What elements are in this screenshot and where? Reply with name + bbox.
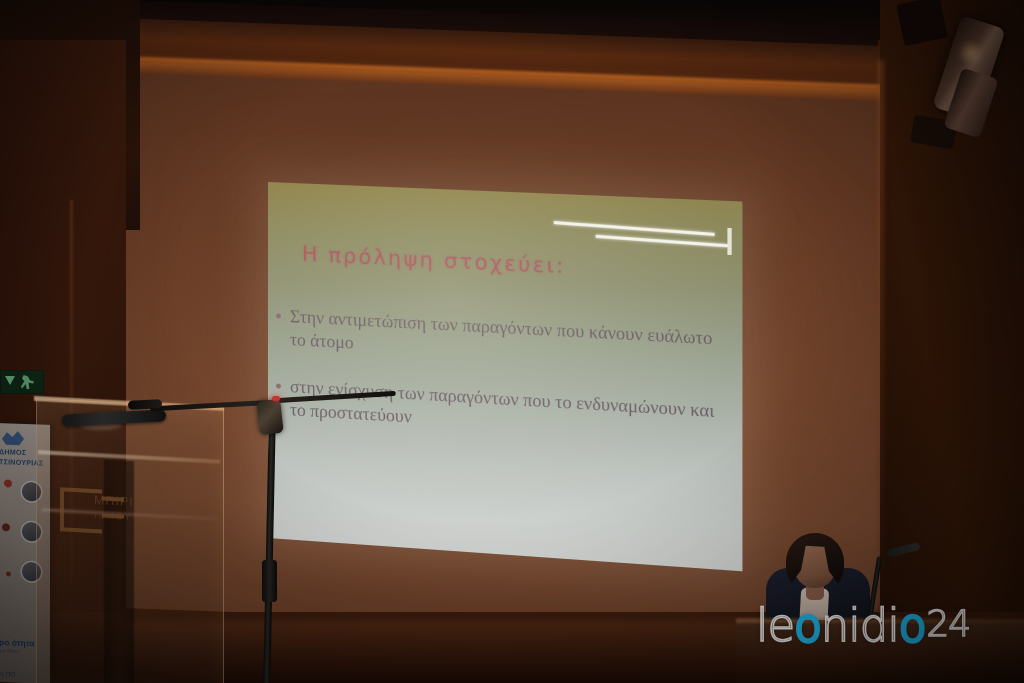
microphone-icon <box>128 399 162 410</box>
slide-bullet-list: Στην αντιμετώπιση των παραγόντων που κάν… <box>276 304 732 473</box>
running-person-icon <box>21 375 34 389</box>
exit-sign <box>0 370 44 394</box>
slide-bullet-text: στην ενίσχυση των παραγόντων που το ενδυ… <box>290 375 732 448</box>
banner-accent-dot <box>6 571 11 576</box>
mic-stand-clutch <box>262 560 277 602</box>
banner-logo-icon <box>2 429 24 446</box>
banner-accent-dot <box>2 523 10 531</box>
bullet-dot-icon <box>276 384 281 389</box>
exit-arrow-icon <box>5 376 15 385</box>
spotlight-glow <box>958 40 984 66</box>
presentation-photo: Η πρόληψη στοχεύει: Στην αντιμετώπιση τω… <box>0 0 1024 683</box>
banner-footer-main: ρο ότητα <box>0 637 35 648</box>
watermark-tail: i <box>887 603 899 648</box>
mic-stand-head <box>256 399 283 435</box>
slide-bullet-item: στην ενίσχυση των παραγόντων που το ενδυ… <box>276 375 732 449</box>
watermark-accent-o-2: o <box>899 603 926 648</box>
watermark-middle: nid <box>821 603 888 648</box>
bullet-dot-icon <box>276 313 281 318</box>
slide-bullet-text: Στην αντιμετώπιση των παραγόντων που κάν… <box>290 305 732 376</box>
projection-screen: Η πρόληψη στοχεύει: Στην αντιμετώπιση τω… <box>268 182 742 571</box>
watermark-accent-o: o <box>794 603 821 648</box>
right-wall-edge <box>878 60 884 620</box>
mic-status-led <box>272 396 280 401</box>
watermark-number: 24 <box>926 607 970 643</box>
slide-decoration-lines <box>531 219 732 255</box>
watermark-prefix: le <box>756 603 794 648</box>
banner-accent-dot <box>4 479 12 487</box>
lectern: ΜΠΙΡΙΚΑ ΙΣΜΟΥ <box>36 398 222 683</box>
watermark-logo: leonidio24 <box>756 598 1008 652</box>
slide-bullet-item: Στην αντιμετώπιση των παραγόντων που κάν… <box>276 304 732 375</box>
slide-title: Η πρόληψη στοχεύει: <box>302 242 717 286</box>
